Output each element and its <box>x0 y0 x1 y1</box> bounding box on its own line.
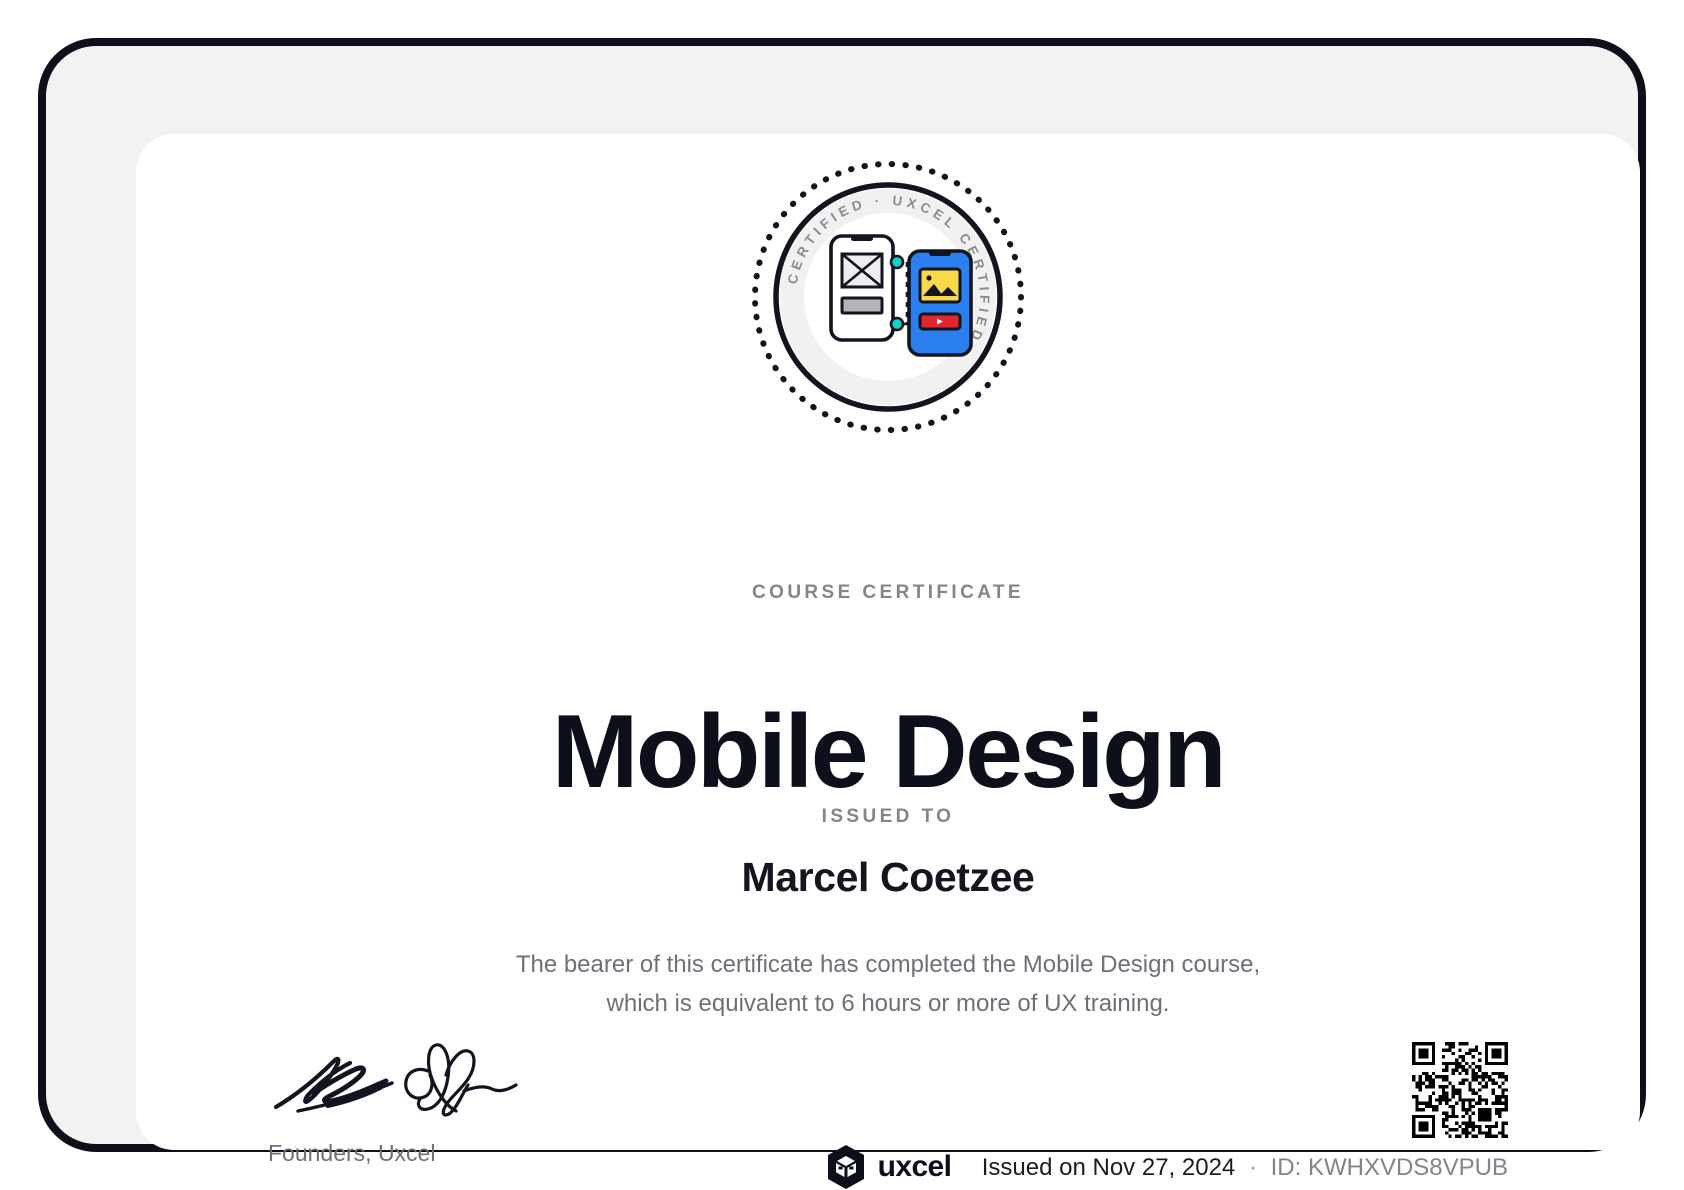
description-line-1: The bearer of this certificate has compl… <box>136 946 1640 985</box>
qr-code-icon[interactable] <box>1412 1042 1508 1138</box>
uxcel-wordmark: uxcel <box>878 1150 952 1184</box>
course-title: Mobile Design <box>136 696 1640 808</box>
issued-to-label: ISSUED TO <box>136 806 1640 828</box>
qr-code[interactable] <box>1412 1042 1508 1138</box>
issue-info: Issued on Nov 27, 2024 · ID: KWHXVDS8VPU… <box>982 1154 1508 1182</box>
credential-id: ID: KWHXVDS8VPUB <box>1271 1154 1508 1181</box>
mobile-design-badge-icon: UXCEL CERTIFIED · UXCEL CERTIFIED · <box>747 156 1029 438</box>
issued-on-date: Issued on Nov 27, 2024 <box>982 1154 1236 1181</box>
issue-info-separator: · <box>1249 1154 1257 1181</box>
recipient-name: Marcel Coetzee <box>136 854 1640 901</box>
uxcel-cube-logo <box>825 1144 867 1190</box>
founders-signature-icon <box>268 1039 568 1124</box>
certificate-badge: UXCEL CERTIFIED · UXCEL CERTIFIED · <box>136 156 1640 438</box>
certificate-outer-frame: UXCEL CERTIFIED · UXCEL CERTIFIED · <box>38 38 1646 1152</box>
certificate-description: The bearer of this certificate has compl… <box>136 946 1640 1024</box>
course-certificate-label: COURSE CERTIFICATE <box>136 582 1640 604</box>
description-line-2: which is equivalent to 6 hours or more o… <box>136 985 1640 1024</box>
certificate-card: UXCEL CERTIFIED · UXCEL CERTIFIED · <box>136 134 1640 1150</box>
